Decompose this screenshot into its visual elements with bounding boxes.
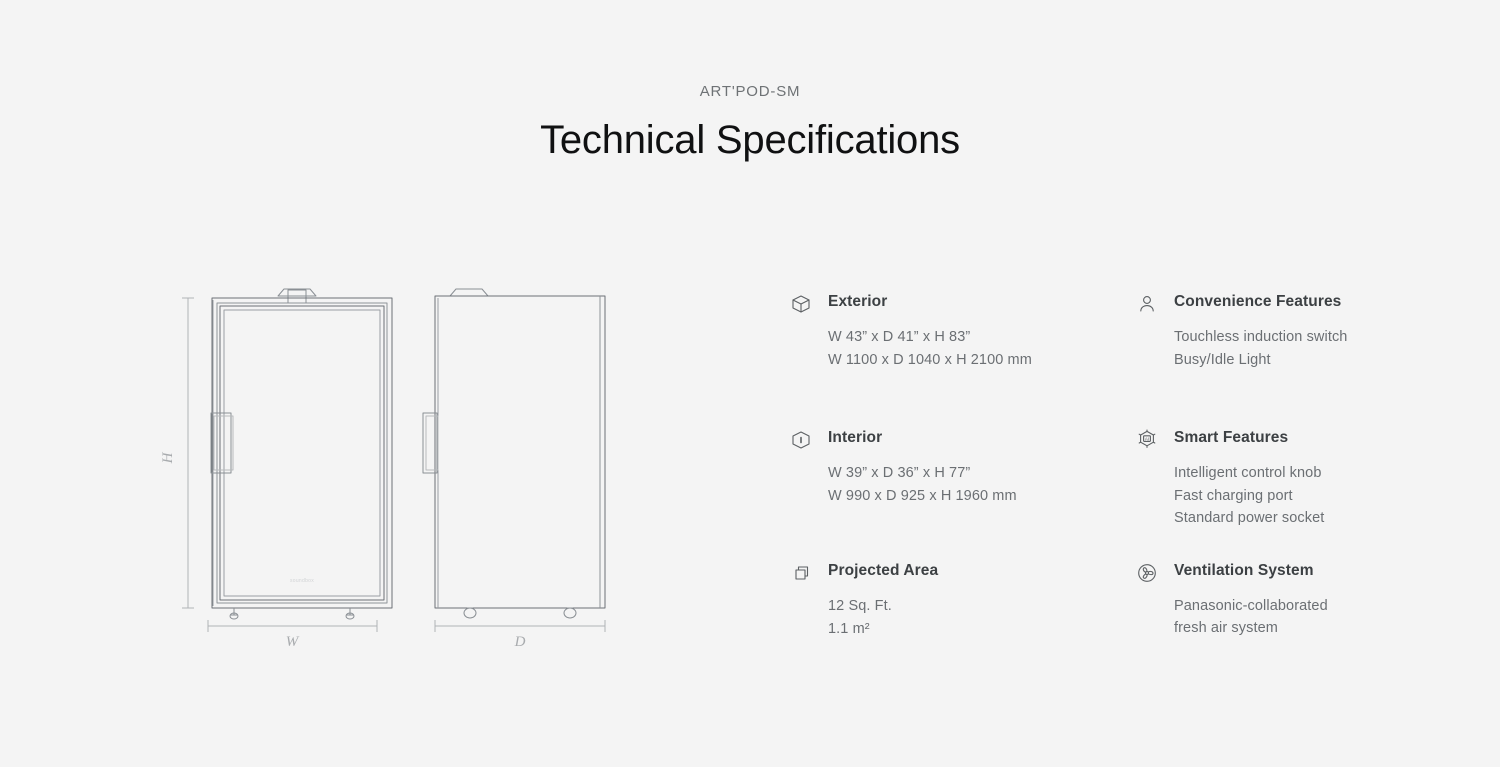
model-code: ART'POD-SM [0, 82, 1500, 102]
spec-heading-ventilation-system: Ventilation System [1174, 561, 1328, 581]
spec-block-projected-area: Projected Area 12 Sq. Ft. 1.1 m² [790, 561, 1108, 640]
dimension-label-height: H [160, 451, 176, 464]
ai-chip-icon: AI [1136, 429, 1158, 451]
spec-block-exterior: Exterior W 43” x D 41” x H 83” W 1100 x … [790, 292, 1108, 371]
product-drawings: H W D soundbox [150, 270, 650, 670]
dimension-label-width: W [286, 634, 300, 650]
brand-mark: soundbox [290, 578, 314, 584]
spec-heading-interior: Interior [828, 428, 1017, 448]
spec-line: Panasonic-collaborated [1174, 595, 1328, 618]
spec-line: 12 Sq. Ft. [828, 595, 938, 618]
spec-line: W 39” x D 36” x H 77” [828, 462, 1017, 485]
spec-body-projected-area: Projected Area 12 Sq. Ft. 1.1 m² [828, 561, 938, 640]
page-title: Technical Specifications [0, 116, 1500, 164]
fan-icon [1136, 562, 1158, 584]
spec-line: W 43” x D 41” x H 83” [828, 326, 1032, 349]
spec-heading-projected-area: Projected Area [828, 561, 938, 581]
front-view-drawing [211, 289, 392, 619]
dimension-label-depth: D [514, 634, 526, 650]
spec-column-right: Convenience Features Touchless induction… [1136, 292, 1454, 640]
spec-heading-convenience-features: Convenience Features [1174, 292, 1347, 312]
spec-block-convenience-features: Convenience Features Touchless induction… [1136, 292, 1454, 371]
area-icon [790, 562, 812, 584]
spec-line: Fast charging port [1174, 485, 1324, 508]
spec-body-smart-features: Smart Features Intelligent control knob … [1174, 428, 1324, 530]
cube-interior-icon [790, 429, 812, 451]
spec-heading-exterior: Exterior [828, 292, 1032, 312]
svg-text:AI: AI [1145, 436, 1149, 441]
spec-block-ventilation-system: Ventilation System Panasonic-collaborate… [1136, 561, 1454, 640]
spec-line: Intelligent control knob [1174, 462, 1324, 485]
spec-line: W 990 x D 925 x H 1960 mm [828, 485, 1017, 508]
spec-line: Standard power socket [1174, 507, 1324, 530]
dimension-lines [182, 298, 605, 632]
person-icon [1136, 293, 1158, 315]
spec-line: fresh air system [1174, 617, 1328, 640]
spec-line: 1.1 m² [828, 618, 938, 641]
side-view-drawing [423, 289, 605, 618]
specifications-grid: Exterior W 43” x D 41” x H 83” W 1100 x … [790, 292, 1450, 640]
spec-line: W 1100 x D 1040 x H 2100 mm [828, 349, 1032, 372]
spec-block-interior: Interior W 39” x D 36” x H 77” W 990 x D… [790, 428, 1108, 507]
spec-body-convenience-features: Convenience Features Touchless induction… [1174, 292, 1347, 371]
spec-body-exterior: Exterior W 43” x D 41” x H 83” W 1100 x … [828, 292, 1032, 371]
spec-heading-smart-features: Smart Features [1174, 428, 1324, 448]
page-header: ART'POD-SM Technical Specifications [0, 82, 1500, 164]
cube-icon [790, 293, 812, 315]
spec-column-left: Exterior W 43” x D 41” x H 83” W 1100 x … [790, 292, 1108, 640]
spec-line: Touchless induction switch [1174, 326, 1347, 349]
spec-body-ventilation-system: Ventilation System Panasonic-collaborate… [1174, 561, 1328, 640]
spec-body-interior: Interior W 39” x D 36” x H 77” W 990 x D… [828, 428, 1017, 507]
spec-sheet-page: ART'POD-SM Technical Specifications [0, 0, 1500, 767]
spec-block-smart-features: AI Smart Features Intelligent control kn… [1136, 428, 1454, 530]
spec-line: Busy/Idle Light [1174, 349, 1347, 372]
